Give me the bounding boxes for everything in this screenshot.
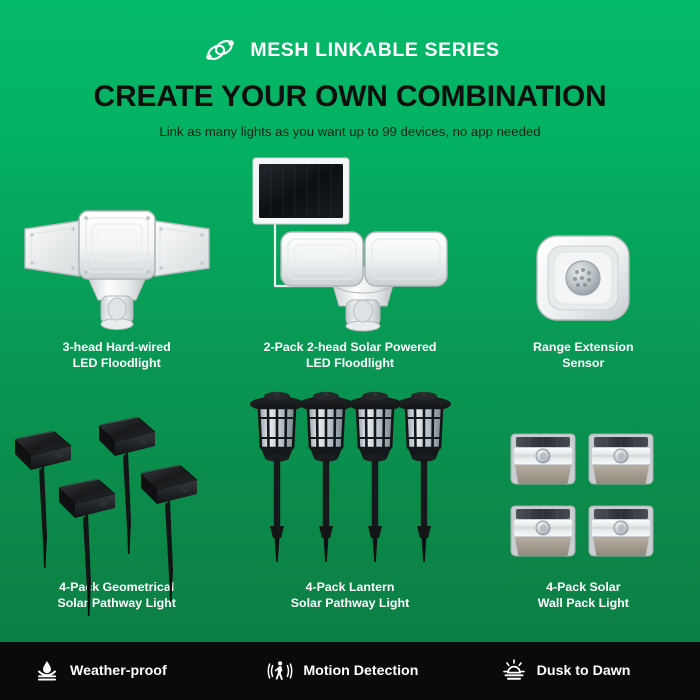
product-card-range-extension-sensor: Range Extension Sensor — [467, 152, 700, 377]
feature-label: Weather-proof — [70, 662, 167, 680]
water-drop-icon — [34, 658, 60, 684]
mesh-link-icon — [200, 37, 240, 63]
product-image-solar-wall-pack-light — [503, 388, 663, 568]
product-card-solar-floodlight: 2-Pack 2-head Solar Powered LED Floodlig… — [233, 152, 466, 377]
walking-person-motion-icon — [267, 658, 293, 684]
product-image-geometrical-pathway-light — [9, 388, 224, 568]
series-badge: MESH LINKABLE SERIES — [0, 36, 700, 64]
feature-motion-detection: Motion Detection — [233, 658, 466, 684]
product-caption: Range Extension Sensor — [533, 340, 634, 371]
product-row-top: 3-head Hard-wired LED Floodlight — [0, 152, 700, 377]
series-title: MESH LINKABLE SERIES — [250, 37, 499, 63]
page-subtitle: Link as many lights as you want up to 99… — [0, 123, 700, 140]
product-image-range-extension-sensor — [523, 152, 643, 332]
product-image-3head-floodlight — [17, 152, 217, 332]
product-card-solar-wall-pack-light: 4-Pack Solar Wall Pack Light — [467, 388, 700, 623]
header: MESH LINKABLE SERIES CREATE YOUR OWN COM… — [0, 0, 700, 140]
product-caption: 2-Pack 2-head Solar Powered LED Floodlig… — [264, 340, 437, 371]
product-caption: 4-Pack Lantern Solar Pathway Light — [291, 580, 409, 611]
page-title: CREATE YOUR OWN COMBINATION — [0, 80, 700, 114]
product-card-geometrical-pathway-light: 4-Pack Geometrical Solar Pathway Light — [0, 388, 233, 623]
feature-bar: Weather-proof Motion Detectio — [0, 642, 700, 700]
product-row-bottom: 4-Pack Geometrical Solar Pathway Light — [0, 388, 700, 623]
product-caption: 3-head Hard-wired LED Floodlight — [63, 340, 171, 371]
product-caption: 4-Pack Solar Wall Pack Light — [538, 580, 629, 611]
product-card-3head-floodlight: 3-head Hard-wired LED Floodlight — [0, 152, 233, 377]
product-image-solar-floodlight — [245, 152, 455, 332]
feature-dusk-to-dawn: Dusk to Dawn — [467, 658, 700, 684]
product-infographic: MESH LINKABLE SERIES CREATE YOUR OWN COM… — [0, 0, 700, 700]
feature-label: Motion Detection — [303, 662, 418, 680]
feature-label: Dusk to Dawn — [537, 662, 631, 680]
product-caption: 4-Pack Geometrical Solar Pathway Light — [57, 580, 175, 611]
sunrise-icon — [501, 658, 527, 684]
feature-weather-proof: Weather-proof — [0, 658, 233, 684]
product-image-lantern-pathway-light — [250, 388, 450, 568]
product-card-lantern-pathway-light: 4-Pack Lantern Solar Pathway Light — [233, 388, 466, 623]
